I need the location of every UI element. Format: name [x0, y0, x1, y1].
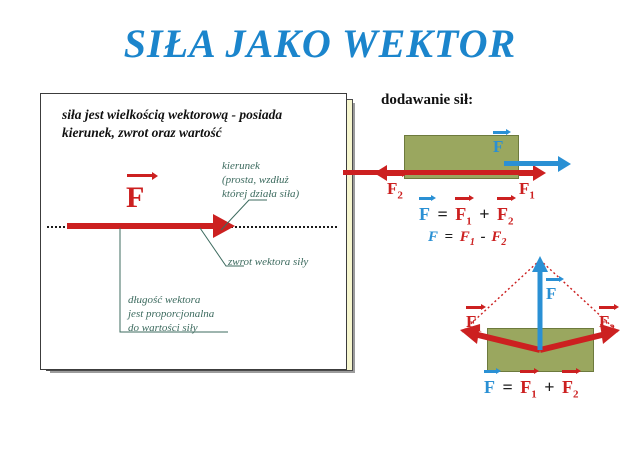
vector-overbar-icon	[497, 197, 512, 200]
right-panel-heading: dodawanie sił:	[381, 92, 473, 109]
card-heading: siła jest wielkością wektorową - posiada…	[62, 106, 337, 142]
label-f1-bottom: F1	[466, 313, 482, 334]
force-vector-letter: F	[126, 181, 144, 214]
equation-scalar-difference: F = F1 - F2	[428, 230, 506, 248]
vector-overbar-icon	[455, 197, 470, 200]
vector-overbar-icon	[419, 197, 432, 200]
vector-overbar-icon	[387, 173, 403, 176]
page-title: SIŁA JAKO WEKTOR	[0, 20, 640, 67]
annotation-kierunek: kierunek (prosta, wzdłuż której działa s…	[222, 160, 337, 201]
vector-overbar-icon	[484, 370, 497, 373]
equation-vector-sum-bottom: F = F1 + F2	[483, 378, 580, 401]
annotation-zwrot: zwrot wektora siły	[228, 256, 338, 270]
resultant-arrowhead-top	[558, 156, 571, 172]
vector-overbar-icon	[519, 173, 535, 176]
vector-overbar-icon	[520, 370, 535, 373]
slide-canvas: SIŁA JAKO WEKTOR siła jest wielkością we…	[0, 0, 640, 453]
label-f1-top: F1	[519, 180, 535, 201]
equation-vector-sum-top: F = F1 + F2	[418, 205, 515, 228]
label-f2-top: F2	[387, 180, 403, 201]
force-vector-label: F	[126, 183, 144, 213]
annotation-dlugosc: długość wektora jest proporcjonalna do w…	[128, 294, 258, 335]
label-f2-bottom: F2	[599, 313, 615, 334]
f1-arrow-shaft	[343, 170, 535, 175]
vector-overbar-icon	[599, 306, 615, 309]
vector-overbar-icon	[127, 174, 153, 177]
vector-overbar-icon	[493, 131, 507, 134]
vector-overbar-icon	[466, 306, 482, 309]
label-resultant-f-top: F	[493, 138, 503, 155]
vector-overbar-icon	[562, 370, 577, 373]
resultant-arrow-shaft-top	[504, 161, 560, 166]
vector-overbar-icon	[546, 278, 560, 281]
label-resultant-f-bottom: F	[546, 285, 556, 302]
